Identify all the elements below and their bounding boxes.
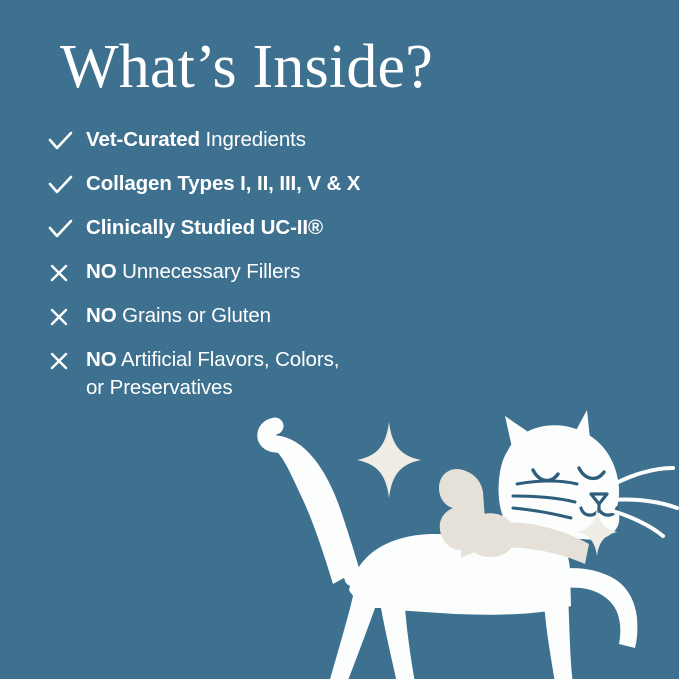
page-title: What’s Inside? [60, 36, 433, 99]
list-item-text: NO Grains or Gluten [86, 302, 271, 330]
list-item-line2: or Preservatives [86, 374, 339, 402]
list-item-bold: NO [86, 260, 117, 283]
list-item: NO Grains or Gluten [46, 302, 516, 332]
list-item-bold: Collagen Types I, II, III, V & X [86, 172, 360, 195]
list-item-text: Vet-Curated Ingredients [86, 126, 306, 154]
list-item: Collagen Types I, II, III, V & X [46, 170, 516, 200]
list-item: NO Artificial Flavors, Colors, or Preser… [46, 346, 516, 402]
cross-icon [46, 260, 86, 288]
cross-icon [46, 304, 86, 332]
list-item: Clinically Studied UC-II® [46, 214, 516, 244]
list-item-bold: Vet-Curated [86, 128, 200, 151]
list-item-rest: Artificial Flavors, Colors, [117, 348, 340, 371]
sparkle-large [357, 422, 421, 498]
cat-illustration [255, 408, 679, 679]
list-item: NO Unnecessary Fillers [46, 258, 516, 288]
list-item-bold: NO [86, 304, 117, 327]
benefits-list: Vet-Curated Ingredients Collagen Types I… [46, 126, 516, 402]
list-item-rest: Grains or Gluten [117, 304, 271, 327]
list-item-bold: Clinically Studied UC-II® [86, 216, 323, 239]
list-item-text: NO Unnecessary Fillers [86, 258, 300, 286]
cat-tail [266, 426, 353, 584]
list-item-rest: Unnecessary Fillers [117, 260, 301, 283]
check-icon [46, 128, 86, 156]
list-item: Vet-Curated Ingredients [46, 126, 516, 156]
check-icon [46, 172, 86, 200]
list-item-text: NO Artificial Flavors, Colors, or Preser… [86, 346, 339, 402]
cat-head [499, 410, 677, 540]
cross-icon [46, 348, 86, 376]
check-icon [46, 216, 86, 244]
whats-inside-poster: What’s Inside? Vet-Curated Ingredients C… [0, 0, 679, 679]
list-item-bold: NO [86, 348, 117, 371]
list-item-text: Clinically Studied UC-II® [86, 214, 323, 242]
list-item-text: Collagen Types I, II, III, V & X [86, 170, 360, 198]
list-item-rest: Ingredients [200, 128, 306, 151]
